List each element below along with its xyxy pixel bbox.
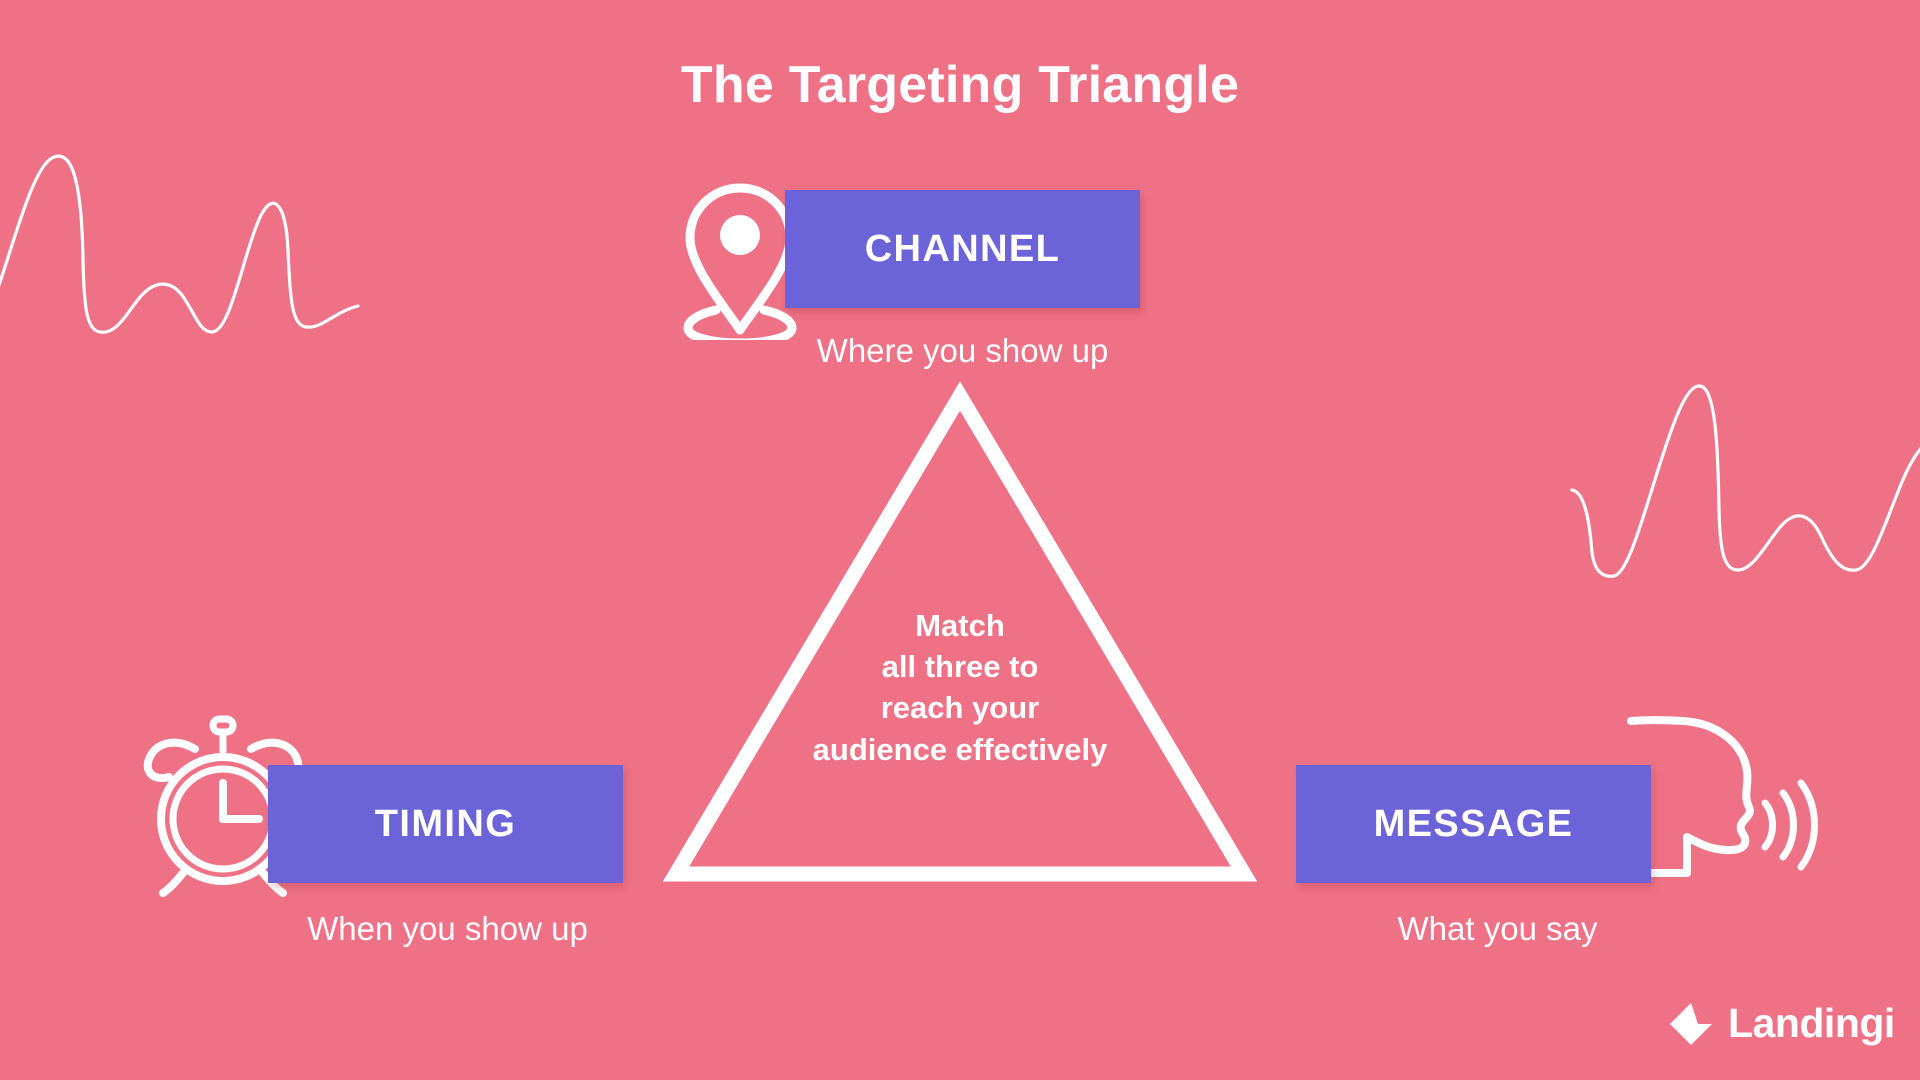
badge-timing[interactable]: TIMING bbox=[268, 765, 623, 883]
caption-message: What you say bbox=[1225, 910, 1770, 948]
caption-timing: When you show up bbox=[175, 910, 720, 948]
page-title: The Targeting Triangle bbox=[0, 55, 1920, 115]
badge-channel[interactable]: CHANNEL bbox=[785, 190, 1140, 308]
squiggle-wave-icon bbox=[1560, 370, 1920, 610]
speaking-head-icon bbox=[1625, 715, 1825, 885]
brand-logo: Landingi bbox=[1668, 1000, 1895, 1047]
infographic-canvas: The Targeting Triangle Match all three t… bbox=[0, 0, 1920, 1080]
triangle-center-text: Match all three to reach your audience e… bbox=[760, 605, 1160, 770]
caption-channel: Where you show up bbox=[690, 332, 1235, 370]
badge-channel-label: CHANNEL bbox=[865, 228, 1061, 271]
brand-name: Landingi bbox=[1728, 1000, 1895, 1047]
badge-message-label: MESSAGE bbox=[1374, 803, 1574, 846]
squiggle-wave-icon bbox=[0, 140, 410, 370]
landingi-diamond-icon bbox=[1668, 1001, 1714, 1047]
location-pin-icon bbox=[680, 180, 800, 340]
badge-timing-label: TIMING bbox=[375, 803, 516, 846]
badge-message[interactable]: MESSAGE bbox=[1296, 765, 1651, 883]
